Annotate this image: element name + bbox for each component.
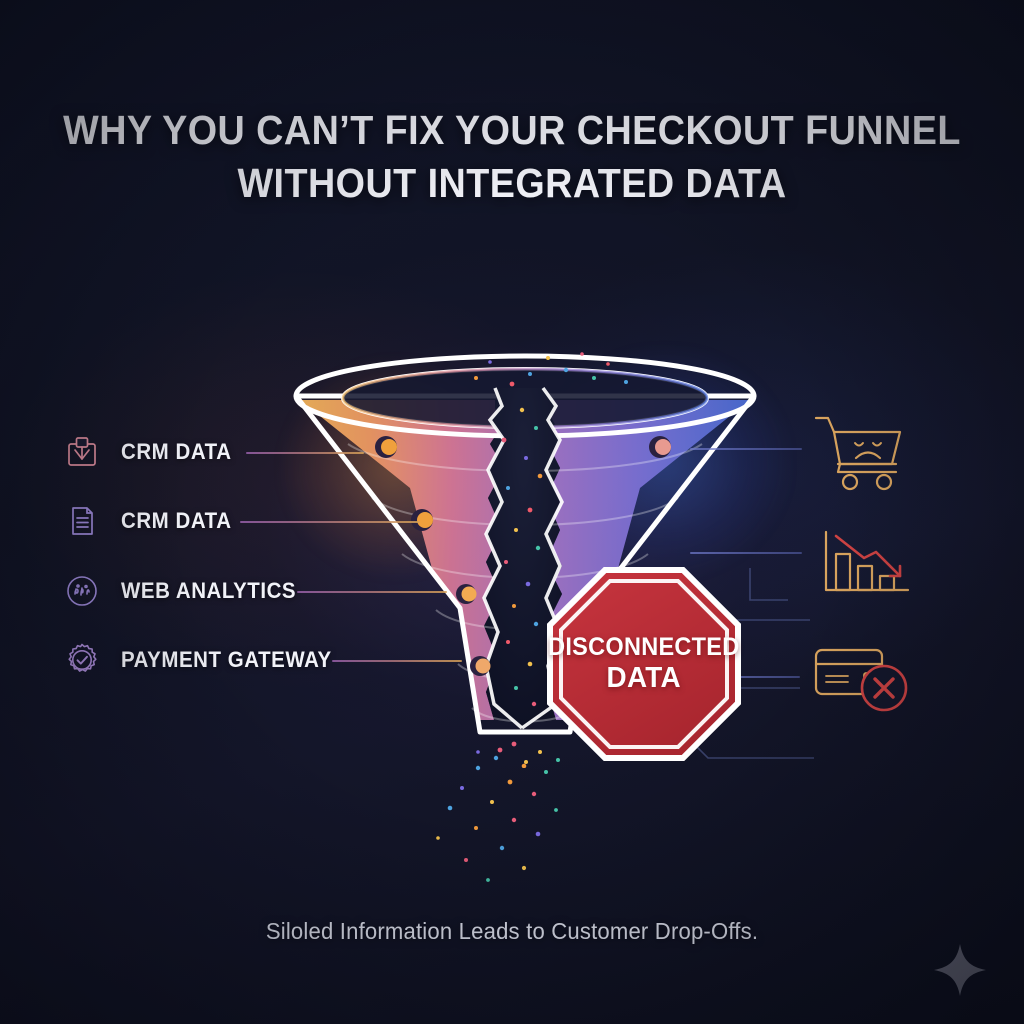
- drop-off-particles: [436, 748, 558, 882]
- connector-line-outcome-1: [690, 448, 802, 450]
- title-line-1: WHY YOU CAN’T FIX YOUR CHECKOUT FUNNEL: [63, 107, 961, 153]
- source-label-1: CRM DATA: [121, 439, 232, 465]
- connector-line-outcome-2: [690, 552, 802, 554]
- payment-failed-icon[interactable]: [812, 640, 912, 721]
- page-subtitle: Siloled Information Leads to Customer Dr…: [20, 918, 1003, 945]
- source-item-1[interactable]: CRM DATA: [62, 429, 240, 475]
- source-item-3[interactable]: WEB ANALYTICS: [62, 568, 309, 614]
- source-item-2[interactable]: CRM DATA: [62, 498, 240, 544]
- source-label-3: WEB ANALYTICS: [121, 578, 296, 604]
- infographic-canvas: WHY YOU CAN’T FIX YOUR CHECKOUT FUNNEL W…: [0, 0, 1024, 1024]
- analytics-circle-icon: [62, 571, 102, 611]
- gear-check-icon: [62, 640, 102, 680]
- document-lines-icon: [62, 501, 102, 541]
- connector-line-source-4: [332, 660, 462, 662]
- disconnected-data-alert[interactable]: DISCONNECTED DATA: [546, 566, 742, 762]
- source-label-2: CRM DATA: [121, 508, 232, 534]
- inbox-download-icon: [62, 432, 102, 472]
- title-line-2: WITHOUT INTEGRATED DATA: [41, 157, 983, 210]
- abandoned-cart-icon[interactable]: [812, 410, 908, 499]
- connector-line-source-1: [246, 452, 364, 454]
- connector-line-source-3: [297, 591, 447, 593]
- connector-line-source-2: [240, 521, 420, 523]
- sparkle-icon: [932, 942, 988, 998]
- source-label-4: PAYMENT GATEWAY: [121, 647, 332, 673]
- page-title: WHY YOU CAN’T FIX YOUR CHECKOUT FUNNEL W…: [41, 104, 983, 211]
- source-item-4[interactable]: PAYMENT GATEWAY: [62, 637, 348, 683]
- declining-chart-icon[interactable]: [820, 528, 912, 605]
- stop-sign-shape: [550, 570, 738, 758]
